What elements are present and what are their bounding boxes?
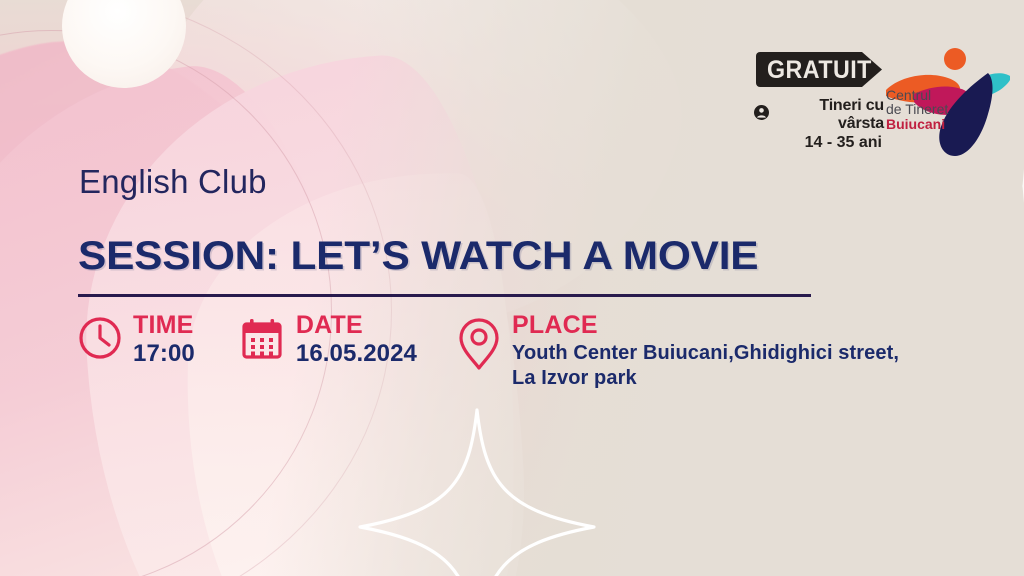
logo-wordmark: Centrul de Tineret Buiucani — [886, 88, 948, 131]
page-title: SESSION: LET’S WATCH A MOVIE — [78, 234, 758, 279]
place-label: PLACE — [512, 312, 912, 339]
clock-icon — [78, 316, 122, 365]
age-line-2-label: 14 - 35 ani — [754, 134, 884, 152]
logo-line-3: Buiucani — [886, 117, 948, 131]
event-details-row: TIME 17:00 — [78, 312, 912, 391]
person-icon — [754, 105, 769, 125]
time-label: TIME — [133, 312, 195, 339]
page-kicker: English Club — [79, 163, 267, 201]
detail-time: TIME 17:00 — [78, 312, 195, 367]
location-pin-icon — [457, 316, 501, 377]
date-label: DATE — [296, 312, 417, 339]
detail-place: PLACE Youth Center Buiucani,Ghidighici s… — [457, 312, 912, 391]
logo-line-1: Centrul — [886, 88, 948, 102]
date-value: 16.05.2024 — [296, 341, 417, 367]
organization-logo: Centrul de Tineret Buiucani — [884, 46, 1012, 158]
logo-line-2: de Tineret — [886, 102, 948, 116]
gratuit-label: GRATUIT — [767, 56, 872, 85]
calendar-icon — [239, 316, 285, 367]
gratuit-tag-shape: GRATUIT — [756, 52, 884, 87]
detail-date: DATE 16.05.2024 — [239, 312, 417, 367]
age-line-1-row: Tineri cu vârsta — [754, 97, 884, 133]
time-value: 17:00 — [133, 341, 195, 367]
age-line-1-label: Tineri cu vârsta — [774, 97, 884, 133]
free-admission-badge: GRATUIT Tineri cu vârsta 14 - 35 ani — [754, 52, 884, 152]
title-divider — [78, 294, 811, 297]
place-value: Youth Center Buiucani,Ghidighici street,… — [512, 341, 912, 391]
event-poster: English Club SESSION: LET’S WATCH A MOVI… — [0, 0, 1024, 576]
